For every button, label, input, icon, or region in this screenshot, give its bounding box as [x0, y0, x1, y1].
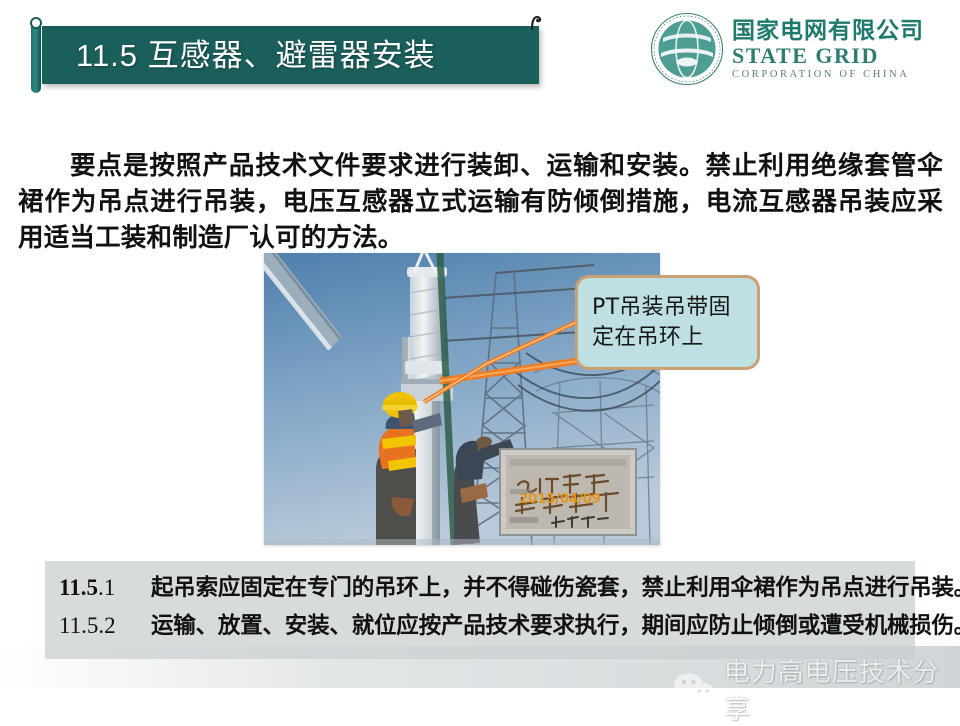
body-paragraph: 要点是按照产品技术文件要求进行装卸、运输和安装。禁止利用绝缘套管伞裙作为吊点进行…: [18, 148, 943, 256]
note-number-1: 11.5.1: [59, 575, 151, 601]
note-number-1-main: 11.5: [59, 575, 98, 600]
watermark: 电力高电压技术分享: [672, 652, 960, 726]
banner-pin-bar: [31, 20, 41, 93]
logo-chinese-name: 国家电网有限公司: [732, 18, 924, 44]
state-grid-emblem-icon: [650, 12, 724, 86]
note-number-2-sub: .2: [98, 613, 115, 638]
logo-english-name: STATE GRID: [732, 44, 924, 68]
note-item-1: 11.5.1 起吊索应固定在专门的吊环上，并不得碰伤瓷套，禁止利用伞裙作为吊点进…: [59, 571, 907, 605]
note-number-2: 11.5.2: [59, 613, 151, 639]
notes-panel: 11.5.1 起吊索应固定在专门的吊环上，并不得碰伤瓷套，禁止利用伞裙作为吊点进…: [45, 561, 915, 659]
slide-title-banner: 11.5 互感器、避雷器安装: [42, 26, 539, 84]
state-grid-logo: 国家电网有限公司 STATE GRID CORPORATION OF CHINA: [650, 8, 950, 90]
note-text-1: 起吊索应固定在专门的吊环上，并不得碰伤瓷套，禁止利用伞裙作为吊点进行吊装。: [151, 571, 960, 605]
note-number-1-sub: .1: [98, 575, 115, 600]
watermark-label: 电力高电压技术分享: [724, 652, 960, 726]
logo-english-subtitle: CORPORATION OF CHINA: [732, 68, 924, 81]
note-text-2: 运输、放置、安装、就位应按产品技术要求执行，期间应防止倾倒或遭受机械损伤。: [151, 609, 960, 643]
slide-canvas: 11.5 互感器、避雷器安装 国家电网有限公司 STATE GRID CORPO…: [0, 0, 960, 720]
photo-callout: PT吊装吊带固 定在吊环上: [575, 275, 760, 370]
callout-text: PT吊装吊带固 定在吊环上: [592, 293, 731, 353]
banner-pin-head-icon: [30, 17, 42, 29]
page-title: 11.5 互感器、避雷器安装: [76, 40, 436, 71]
callout-line-2: 定在吊环上: [592, 325, 704, 350]
banner-hook-icon: [528, 14, 544, 30]
logo-wordmark: 国家电网有限公司 STATE GRID CORPORATION OF CHINA: [732, 18, 924, 81]
note-number-2-main: 11.5: [59, 613, 98, 638]
callout-line-1: PT吊装吊带固: [592, 295, 731, 320]
note-item-2: 11.5.2 运输、放置、安装、就位应按产品技术要求执行，期间应防止倾倒或遭受机…: [59, 609, 907, 643]
wechat-icon: [672, 672, 717, 706]
svg-text:2015/04/09: 2015/04/09: [519, 492, 601, 507]
